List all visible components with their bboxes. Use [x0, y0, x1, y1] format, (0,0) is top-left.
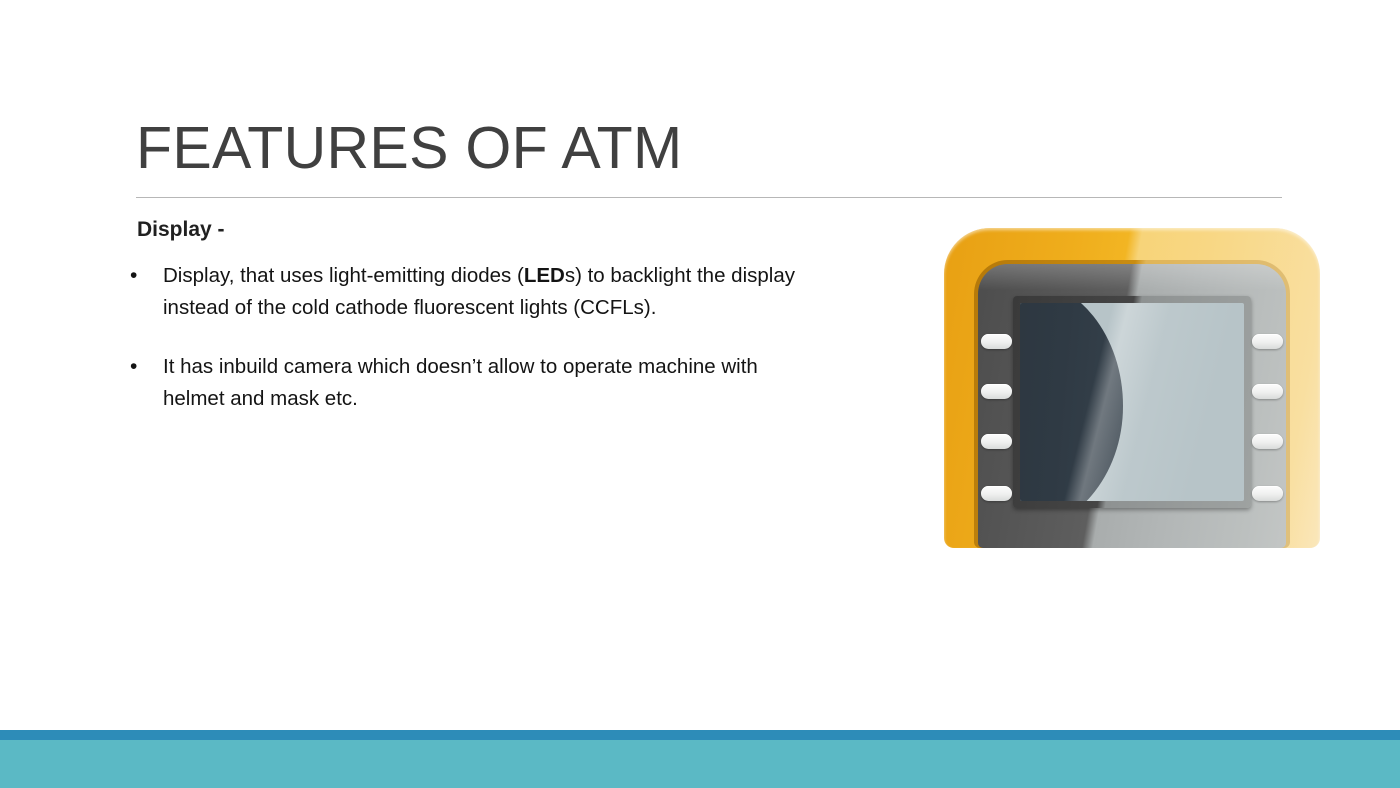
atm-function-button-right-2[interactable]: [1252, 384, 1283, 399]
list-item-text: It has inbuild camera which doesn’t allo…: [163, 351, 803, 414]
atm-screen-frame: [1013, 296, 1251, 508]
list-item: • It has inbuild camera which doesn’t al…: [130, 351, 830, 414]
atm-display-photo-right: [944, 228, 1320, 548]
page-title: FEATURES OF ATM: [136, 113, 682, 183]
atm-function-button-right-3[interactable]: [1252, 434, 1283, 449]
bullet-segment-bold: LED: [524, 264, 565, 287]
atm-left-crop-window: [120, 450, 500, 732]
section-subheading: Display -: [137, 216, 830, 244]
bullet-marker-icon: •: [130, 351, 163, 383]
body-content: Display - • Display, that uses light-emi…: [130, 216, 830, 442]
footer-accent-band-dark: [0, 730, 1400, 740]
slide-canvas: FEATURES OF ATM Display - • Display, tha…: [0, 0, 1400, 788]
bullet-marker-icon: •: [130, 260, 163, 292]
atm-function-button-left-1[interactable]: [981, 334, 1012, 349]
atm-function-button-left-2[interactable]: [981, 384, 1012, 399]
title-divider: [136, 197, 1282, 198]
atm-housing: [978, 264, 1286, 548]
bullet-segment: Display, that uses light-emitting diodes…: [163, 264, 524, 287]
footer-accent-band-light: [0, 740, 1400, 788]
atm-function-button-left-3[interactable]: [981, 434, 1012, 449]
list-item-text: Display, that uses light-emitting diodes…: [163, 260, 803, 323]
list-item: • Display, that uses light-emitting diod…: [130, 260, 830, 323]
atm-function-button-right-4[interactable]: [1252, 486, 1283, 501]
atm-function-button-left-4[interactable]: [981, 486, 1012, 501]
atm-screen-glass: [1020, 303, 1244, 501]
atm-function-button-right-1[interactable]: [1252, 334, 1283, 349]
